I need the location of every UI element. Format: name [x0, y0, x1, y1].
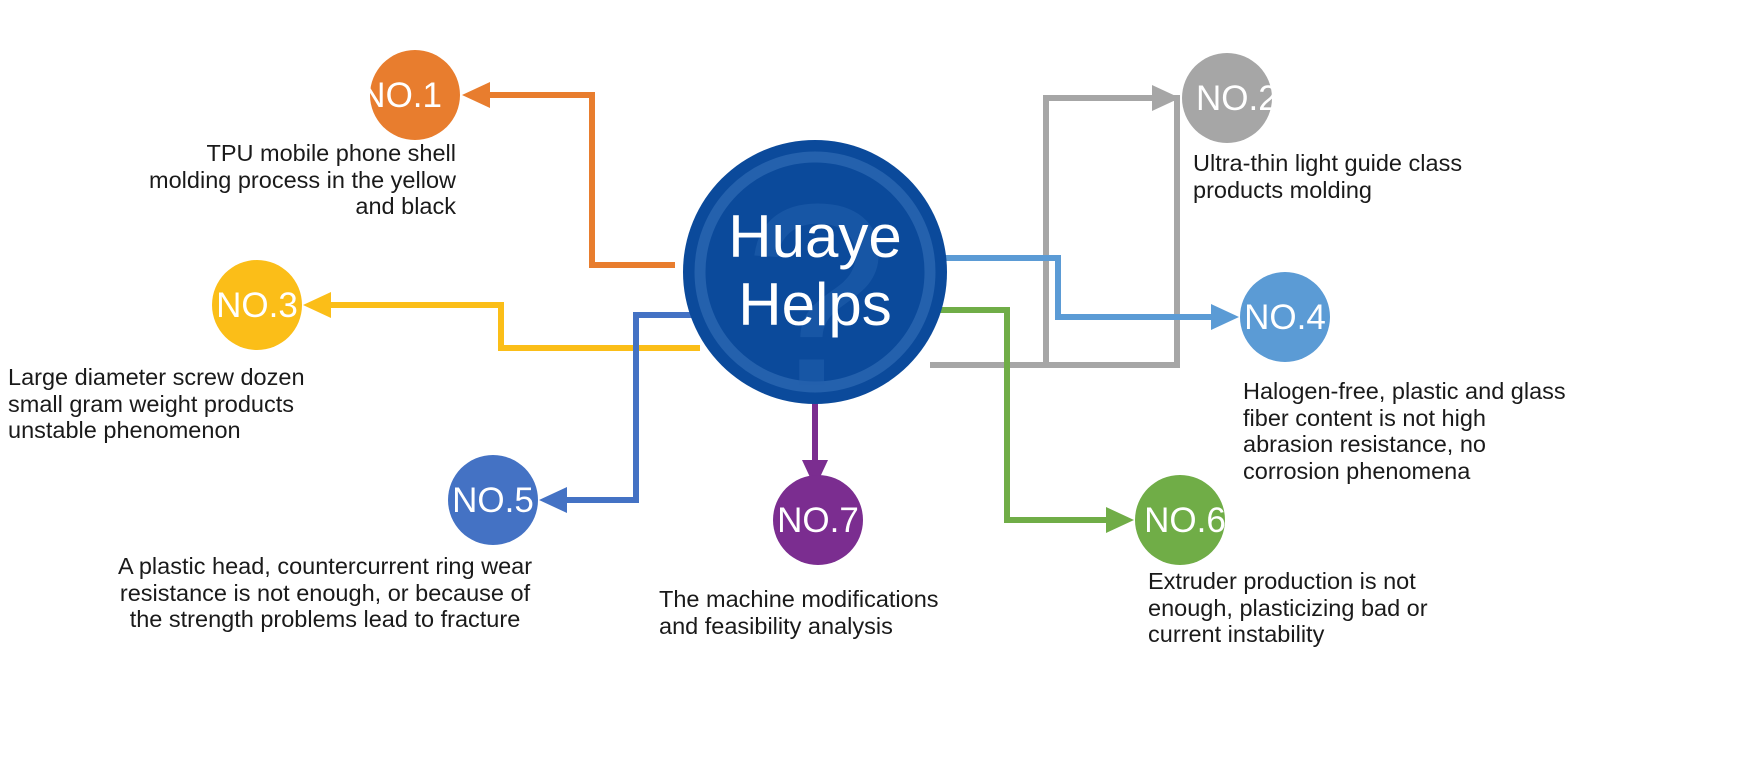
connector-no4 [940, 258, 1239, 330]
hub-node[interactable]: ? Huaye Helps [683, 140, 947, 441]
node-no4[interactable]: NO.4 [1240, 272, 1330, 362]
description-no1: TPU mobile phone shell molding process i… [120, 140, 456, 220]
node-no2[interactable]: NO.2 [1182, 53, 1278, 143]
description-no4: Halogen-free, plastic and glass fiber co… [1243, 378, 1643, 484]
connector-no2 [930, 85, 1180, 365]
description-no3: Large diameter screw dozen small gram we… [8, 364, 348, 444]
connector-no7 [802, 400, 828, 488]
description-no7: The machine modifications and feasibilit… [659, 586, 989, 639]
huaye-helps-diagram: ? Huaye Helps NO.1 NO.2 NO.3 NO.4 NO.5 [0, 0, 1764, 758]
node-no3-label: NO.3 [216, 286, 298, 325]
description-no2: Ultra-thin light guide class products mo… [1193, 150, 1573, 203]
node-no1[interactable]: NO.1 [360, 50, 460, 140]
node-no4-label: NO.4 [1244, 298, 1326, 337]
connector-no6 [930, 310, 1134, 533]
node-no6[interactable]: NO.6 [1135, 475, 1226, 565]
hub-title-line2: Helps [738, 271, 891, 338]
node-no7-label: NO.7 [777, 501, 859, 540]
connector-no5 [539, 315, 700, 513]
node-no7[interactable]: NO.7 [773, 475, 863, 565]
node-no1-label: NO.1 [360, 76, 442, 115]
connector-no1 [462, 82, 675, 265]
description-no6: Extruder production is not enough, plast… [1148, 568, 1508, 648]
node-no6-label: NO.6 [1144, 501, 1226, 540]
description-no5: A plastic head, countercurrent ring wear… [110, 553, 540, 633]
node-no3[interactable]: NO.3 [212, 260, 302, 350]
node-no5[interactable]: NO.5 [448, 455, 538, 545]
node-no2-label: NO.2 [1196, 79, 1278, 118]
node-no5-label: NO.5 [452, 481, 534, 520]
hub-title-line1: Huaye [728, 203, 901, 270]
connector-no3 [303, 292, 700, 348]
